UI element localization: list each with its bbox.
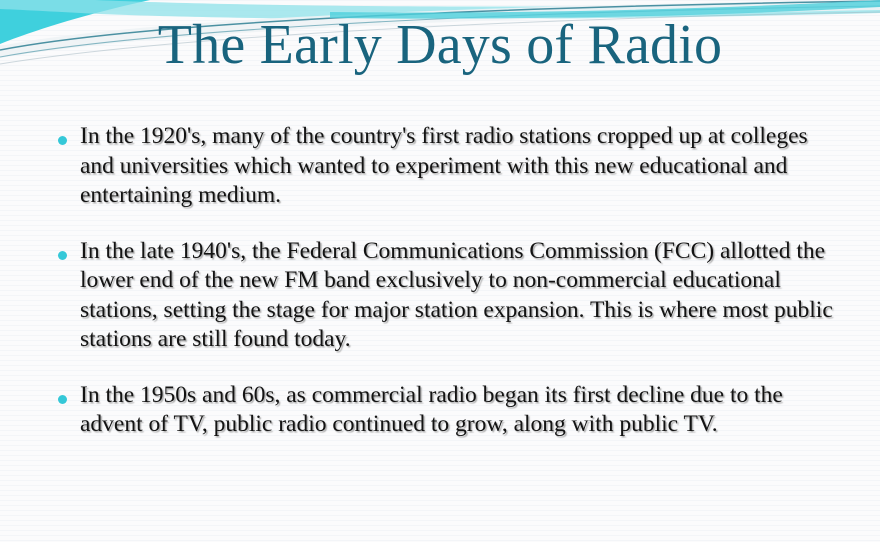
bullet-dot-icon <box>58 251 67 260</box>
slide-body: In the 1920's, many of the country's fir… <box>0 122 880 466</box>
bullet-dot-icon <box>58 136 67 145</box>
presentation-slide: The Early Days of Radio In the 1920's, m… <box>0 0 880 542</box>
list-item: In the 1950s and 60s, as commercial radi… <box>0 381 880 440</box>
bullet-dot-icon <box>58 395 67 404</box>
bullet-text: In the 1920's, many of the country's fir… <box>80 122 840 211</box>
list-item: In the late 1940's, the Federal Communic… <box>0 237 880 355</box>
slide-title: The Early Days of Radio <box>0 13 880 77</box>
bullet-text: In the 1950s and 60s, as commercial radi… <box>80 381 840 440</box>
list-item: In the 1920's, many of the country's fir… <box>0 122 880 211</box>
bullet-text: In the late 1940's, the Federal Communic… <box>80 237 840 355</box>
